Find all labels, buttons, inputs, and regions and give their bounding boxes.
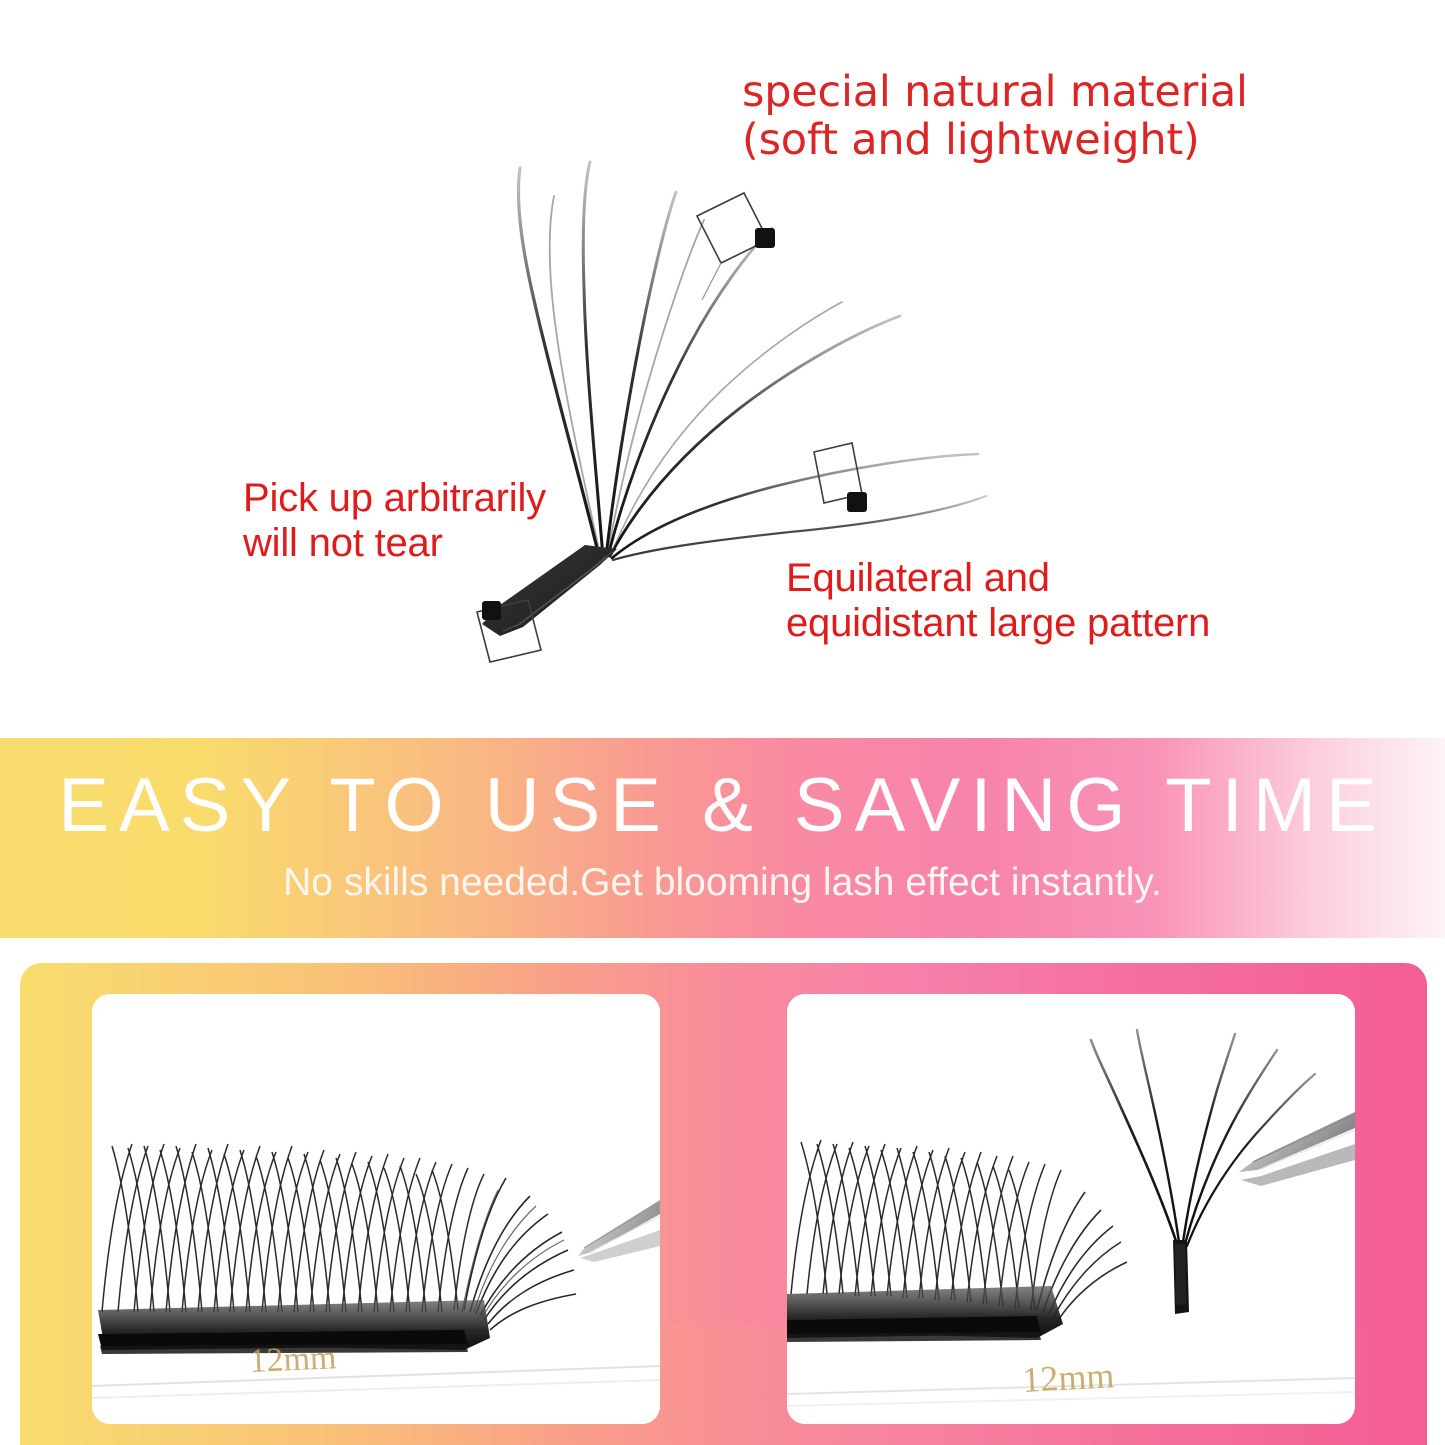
- photo-lash-strip-with-tweezers: 12mm: [92, 994, 660, 1424]
- size-label-left: 12mm: [249, 1339, 337, 1380]
- top-diagram-section: special natural material (soft and light…: [0, 0, 1445, 738]
- callout-label-equilateral: Equilateral and equidistant large patter…: [786, 556, 1210, 646]
- lash-strands-secondary: [550, 196, 842, 559]
- callout-label-material: special natural material (soft and light…: [742, 68, 1248, 164]
- size-label-right: 12mm: [1021, 1355, 1115, 1400]
- callout-marker-material: [697, 193, 775, 300]
- photo-lash-fan-pickup: 12mm: [787, 994, 1355, 1424]
- banner-subtitle: No skills needed.Get blooming lash effec…: [0, 863, 1445, 902]
- photo-card-left[interactable]: 12mm: [92, 994, 660, 1424]
- easy-to-use-banner: EASY TO USE & SAVING TIME No skills need…: [0, 738, 1445, 938]
- photo-gradient-frame: 12mm: [20, 963, 1427, 1445]
- product-photo-gallery: 12mm: [0, 938, 1445, 1445]
- banner-title: EASY TO USE & SAVING TIME: [0, 768, 1445, 844]
- photo-card-right[interactable]: 12mm: [787, 994, 1355, 1424]
- callout-label-pickup: Pick up arbitrarily will not tear: [243, 476, 546, 566]
- callout-marker-equilateral: [814, 443, 867, 512]
